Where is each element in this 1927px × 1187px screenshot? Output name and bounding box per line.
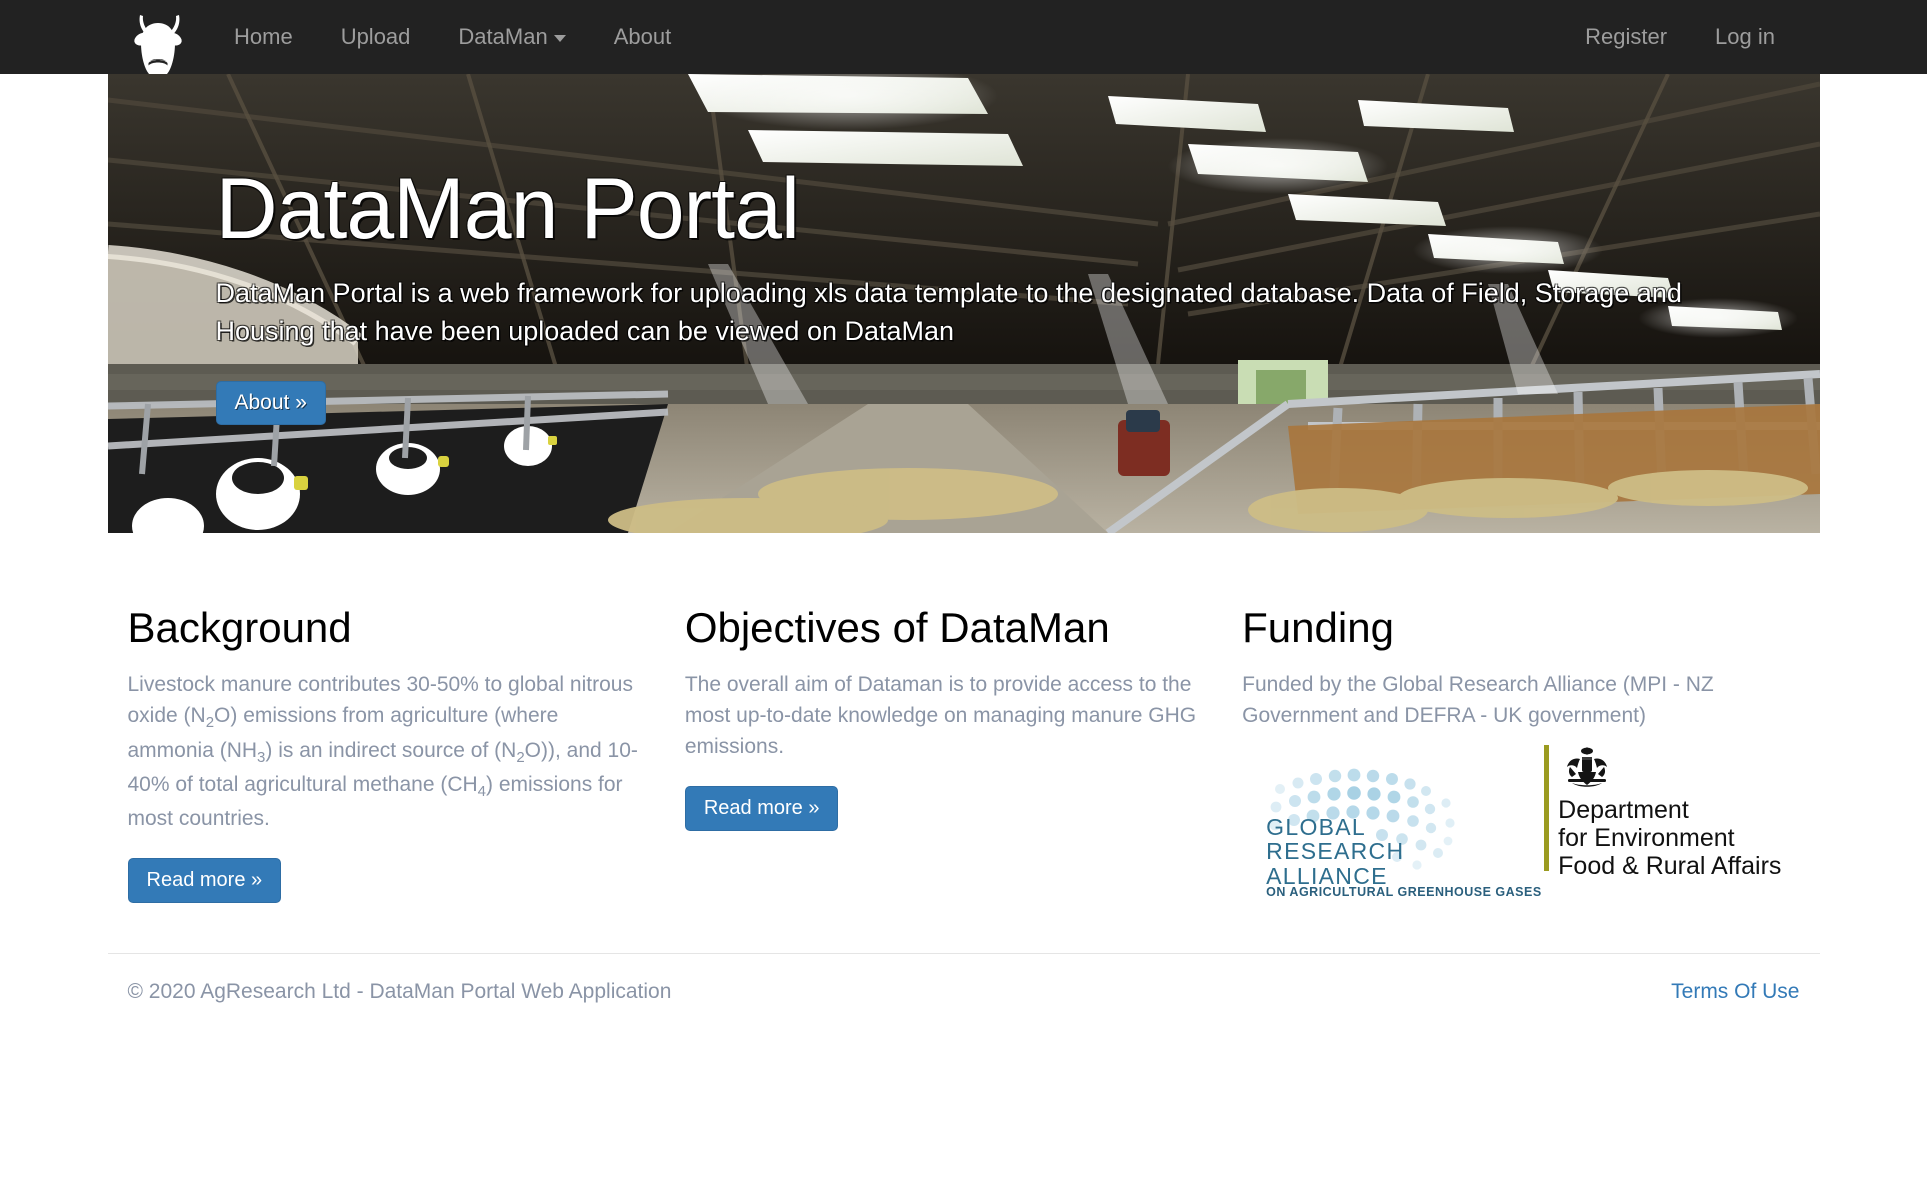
defra-wordmark: Department for Environment Food & Rural … bbox=[1558, 796, 1781, 880]
about-button[interactable]: About » bbox=[216, 381, 326, 425]
defra-accent-bar bbox=[1544, 745, 1549, 871]
hero-description: DataMan Portal is a web framework for up… bbox=[216, 274, 1696, 351]
footer: © 2020 AgResearch Ltd - DataMan Portal W… bbox=[108, 953, 1820, 1004]
navbar-right-group: Register Log in bbox=[1561, 0, 1799, 74]
column-funding: Funding Funded by the Global Research Al… bbox=[1242, 605, 1799, 905]
nav-item-dataman-label: DataMan bbox=[458, 24, 547, 49]
gra-line-2: RESEARCH bbox=[1266, 839, 1404, 863]
gra-line-3: ALLIANCE bbox=[1266, 864, 1404, 888]
hero-section: DataMan Portal DataMan Portal is a web f… bbox=[0, 74, 1927, 533]
footer-copyright: © 2020 AgResearch Ltd - DataMan Portal W… bbox=[128, 980, 672, 1004]
nav-item-about[interactable]: About bbox=[590, 0, 696, 74]
navbar-menu: Home Upload DataMan About bbox=[210, 0, 695, 74]
navbar-left-group: Home Upload DataMan About bbox=[0, 0, 695, 74]
royal-coat-of-arms-icon bbox=[1558, 745, 1616, 789]
objectives-heading: Objectives of DataMan bbox=[685, 605, 1200, 651]
page-title: DataMan Portal bbox=[216, 166, 1820, 252]
hero-banner: DataMan Portal DataMan Portal is a web f… bbox=[108, 74, 1820, 533]
main-content: Background Livestock manure contributes … bbox=[108, 605, 1820, 905]
nav-item-register-label: Register bbox=[1585, 24, 1667, 49]
nav-item-about-label: About bbox=[614, 24, 672, 49]
cow-head-logo-icon bbox=[129, 12, 187, 74]
defra-logo: Department for Environment Food & Rural … bbox=[1544, 745, 1781, 875]
brand-logo-link[interactable] bbox=[128, 0, 188, 74]
navbar: Home Upload DataMan About Register Log i… bbox=[0, 0, 1927, 74]
gra-wordmark: GLOBAL RESEARCH ALLIANCE bbox=[1266, 815, 1404, 887]
terms-of-use-link[interactable]: Terms Of Use bbox=[1671, 980, 1799, 1004]
nav-item-home[interactable]: Home bbox=[210, 0, 317, 74]
column-background: Background Livestock manure contributes … bbox=[128, 605, 685, 905]
background-heading: Background bbox=[128, 605, 643, 651]
defra-line-2: for Environment bbox=[1558, 824, 1781, 852]
column-objectives: Objectives of DataMan The overall aim of… bbox=[685, 605, 1242, 905]
defra-line-1: Department bbox=[1558, 796, 1781, 824]
nav-item-login[interactable]: Log in bbox=[1691, 0, 1799, 74]
nav-item-upload-label: Upload bbox=[341, 24, 411, 49]
hero-content: DataMan Portal DataMan Portal is a web f… bbox=[108, 74, 1820, 425]
objectives-paragraph: The overall aim of Dataman is to provide… bbox=[685, 669, 1200, 762]
feature-columns: Background Livestock manure contributes … bbox=[128, 605, 1800, 905]
nav-item-upload[interactable]: Upload bbox=[317, 0, 435, 74]
funding-heading: Funding bbox=[1242, 605, 1757, 651]
nav-item-dataman[interactable]: DataMan bbox=[434, 0, 589, 74]
gra-subtitle: ON AGRICULTURAL GREENHOUSE GASES bbox=[1266, 885, 1542, 899]
nav-item-home-label: Home bbox=[234, 24, 293, 49]
objectives-read-more-button[interactable]: Read more » bbox=[685, 786, 839, 831]
gra-line-1: GLOBAL bbox=[1266, 815, 1404, 839]
nav-item-login-label: Log in bbox=[1715, 24, 1775, 49]
funding-paragraph: Funded by the Global Research Alliance (… bbox=[1242, 669, 1757, 731]
global-research-alliance-logo: GLOBAL RESEARCH ALLIANCE ON AGRICULTURAL… bbox=[1242, 745, 1514, 905]
defra-line-3: Food & Rural Affairs bbox=[1558, 852, 1781, 880]
background-paragraph: Livestock manure contributes 30-50% to g… bbox=[128, 669, 643, 834]
chevron-down-icon bbox=[554, 35, 566, 42]
nav-item-register[interactable]: Register bbox=[1561, 0, 1691, 74]
background-read-more-button[interactable]: Read more » bbox=[128, 858, 282, 903]
funder-logos: GLOBAL RESEARCH ALLIANCE ON AGRICULTURAL… bbox=[1242, 745, 1757, 905]
